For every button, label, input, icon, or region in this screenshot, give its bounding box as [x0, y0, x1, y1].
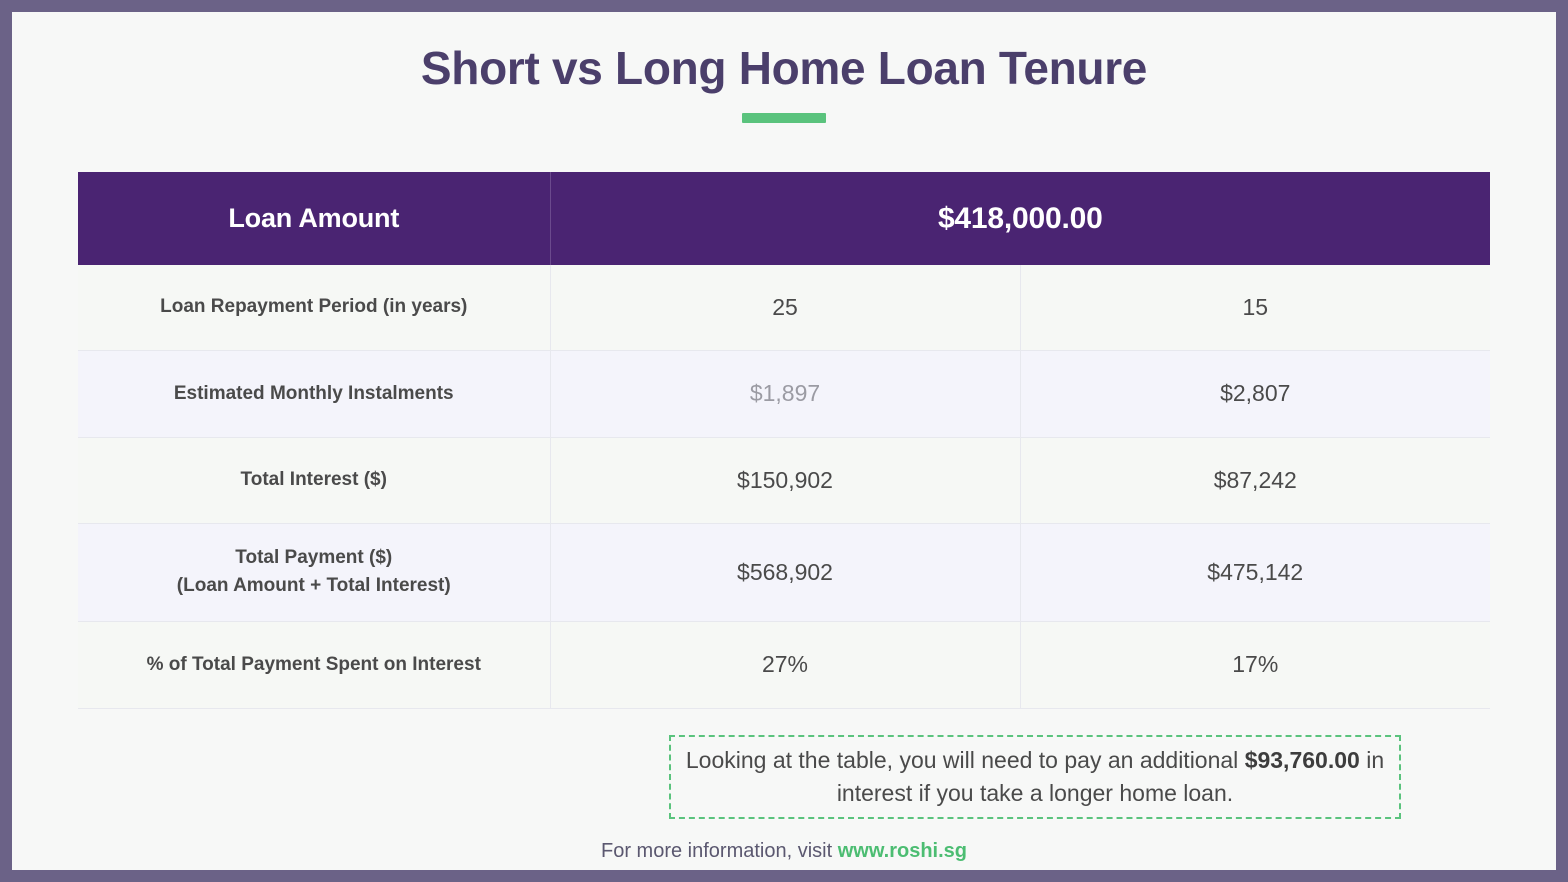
accent-bar-divider — [742, 113, 826, 123]
footer-website-link[interactable]: www.roshi.sg — [838, 840, 967, 862]
row-label-monthly-instalments: Estimated Monthly Instalments — [78, 350, 550, 437]
row-label-percent-interest: % of Total Payment Spent on Interest — [78, 621, 550, 708]
callout-text-before: Looking at the table, you will need to p… — [686, 747, 1238, 773]
row-value-percent-interest-long: 27% — [550, 621, 1020, 708]
loan-comparison-table: Loan Amount $418,000.00 Loan Repayment P… — [78, 172, 1490, 709]
row-label-total-payment-line1: Total Payment ($) — [235, 547, 392, 568]
callout-box: Looking at the table, you will need to p… — [669, 735, 1401, 819]
table-row: % of Total Payment Spent on Interest 27%… — [78, 621, 1490, 708]
header-loan-amount-label: Loan Amount — [78, 172, 550, 265]
row-label-total-payment-line2: (Loan Amount + Total Interest) — [177, 575, 451, 596]
loan-comparison-table-wrapper: Loan Amount $418,000.00 Loan Repayment P… — [78, 172, 1490, 709]
callout-amount: $93,760.00 — [1245, 747, 1360, 773]
row-value-total-interest-long: $150,902 — [550, 437, 1020, 523]
row-label-repayment-period: Loan Repayment Period (in years) — [78, 265, 550, 350]
table-header: Loan Amount $418,000.00 — [78, 172, 1490, 265]
footer: For more information, visit www.roshi.sg — [12, 840, 1556, 863]
table-header-row: Loan Amount $418,000.00 — [78, 172, 1490, 265]
row-value-repayment-period-short: 15 — [1020, 265, 1490, 350]
row-value-total-payment-short: $475,142 — [1020, 523, 1490, 621]
row-value-monthly-instalments-short: $2,807 — [1020, 350, 1490, 437]
title-block: Short vs Long Home Loan Tenure — [12, 42, 1556, 123]
row-value-repayment-period-long: 25 — [550, 265, 1020, 350]
table-row: Total Interest ($) $150,902 $87,242 — [78, 437, 1490, 523]
row-value-total-payment-long: $568,902 — [550, 523, 1020, 621]
row-label-total-payment: Total Payment ($) (Loan Amount + Total I… — [78, 523, 550, 621]
infographic-canvas: Short vs Long Home Loan Tenure Loan Amou… — [12, 12, 1556, 870]
infographic-container: Short vs Long Home Loan Tenure Loan Amou… — [0, 0, 1568, 882]
header-loan-amount-value: $418,000.00 — [550, 172, 1490, 265]
table-row: Estimated Monthly Instalments $1,897 $2,… — [78, 350, 1490, 437]
table-body: Loan Repayment Period (in years) 25 15 E… — [78, 265, 1490, 708]
page-title: Short vs Long Home Loan Tenure — [12, 42, 1556, 95]
table-row: Loan Repayment Period (in years) 25 15 — [78, 265, 1490, 350]
footer-prefix: For more information, visit — [601, 840, 832, 862]
table-row: Total Payment ($) (Loan Amount + Total I… — [78, 523, 1490, 621]
row-value-monthly-instalments-long: $1,897 — [550, 350, 1020, 437]
row-label-total-interest: Total Interest ($) — [78, 437, 550, 523]
row-value-total-interest-short: $87,242 — [1020, 437, 1490, 523]
row-value-percent-interest-short: 17% — [1020, 621, 1490, 708]
callout-text: Looking at the table, you will need to p… — [671, 744, 1399, 809]
